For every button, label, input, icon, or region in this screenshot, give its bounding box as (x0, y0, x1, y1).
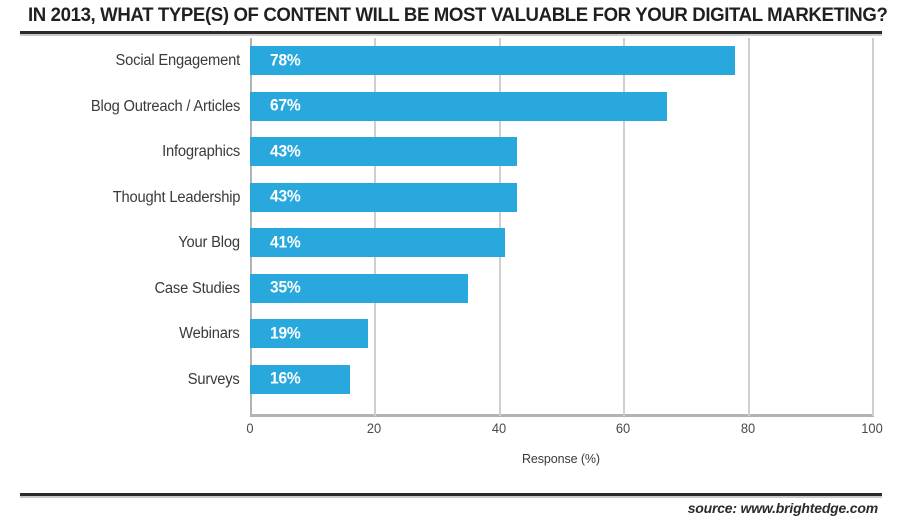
bar-row: 35% (250, 266, 872, 312)
header-divider (20, 31, 882, 34)
y-axis-tick-label: Infographics (162, 129, 240, 175)
bar[interactable]: 78% (250, 46, 735, 75)
bar-row: 19% (250, 311, 872, 357)
bar-value-label: 41% (270, 233, 300, 252)
gridline (872, 38, 874, 416)
bar[interactable]: 16% (250, 365, 350, 394)
y-axis-tick-label: Your Blog (178, 220, 240, 266)
x-axis-ticks: 020406080100 (250, 420, 872, 442)
bar-row: 43% (250, 175, 872, 221)
bar-row: 16% (250, 357, 872, 403)
x-axis-tick-label: 0 (246, 420, 253, 436)
bar-value-label: 67% (270, 97, 300, 116)
chart-plot-area: 78%67%43%43%41%35%19%16% (250, 38, 872, 416)
y-axis-tick-label: Webinars (180, 311, 240, 357)
bar-value-label: 43% (270, 142, 300, 161)
x-axis-title: Response (%) (250, 452, 872, 466)
page-title: IN 2013, WHAT TYPE(S) OF CONTENT WILL BE… (28, 4, 840, 27)
x-axis-tick-label: 80 (740, 420, 754, 436)
bar[interactable]: 19% (250, 319, 368, 348)
bar-row: 78% (250, 38, 872, 84)
y-axis-tick-label: Case Studies (155, 266, 240, 312)
bar[interactable]: 41% (250, 228, 505, 257)
bar-value-label: 35% (270, 279, 300, 298)
y-axis-tick-label: Blog Outreach / Articles (91, 84, 240, 130)
bar[interactable]: 67% (250, 92, 667, 121)
y-axis-tick-label: Surveys (188, 357, 240, 403)
source-caption: source: www.brightedge.com (688, 500, 878, 516)
bar[interactable]: 35% (250, 274, 468, 303)
y-axis-labels: Social EngagementBlog Outreach / Article… (30, 38, 240, 414)
x-axis-line (250, 414, 874, 417)
bar-row: 43% (250, 129, 872, 175)
bar-value-label: 19% (270, 324, 300, 343)
x-axis-tick-label: 40 (492, 420, 506, 436)
footer-divider (20, 493, 882, 496)
bar[interactable]: 43% (250, 137, 517, 166)
x-axis-tick-label: 60 (616, 420, 630, 436)
bar-value-label: 16% (270, 370, 300, 389)
x-axis-tick-label: 100 (861, 420, 882, 436)
bar-value-label: 78% (270, 51, 300, 70)
bar-row: 41% (250, 220, 872, 266)
y-axis-tick-label: Thought Leadership (112, 175, 240, 221)
y-axis-tick-label: Social Engagement (116, 38, 240, 84)
bar[interactable]: 43% (250, 183, 517, 212)
bar-series: 78%67%43%43%41%35%19%16% (250, 38, 872, 414)
x-axis-tick-label: 20 (367, 420, 381, 436)
bar-value-label: 43% (270, 188, 300, 207)
bar-row: 67% (250, 84, 872, 130)
